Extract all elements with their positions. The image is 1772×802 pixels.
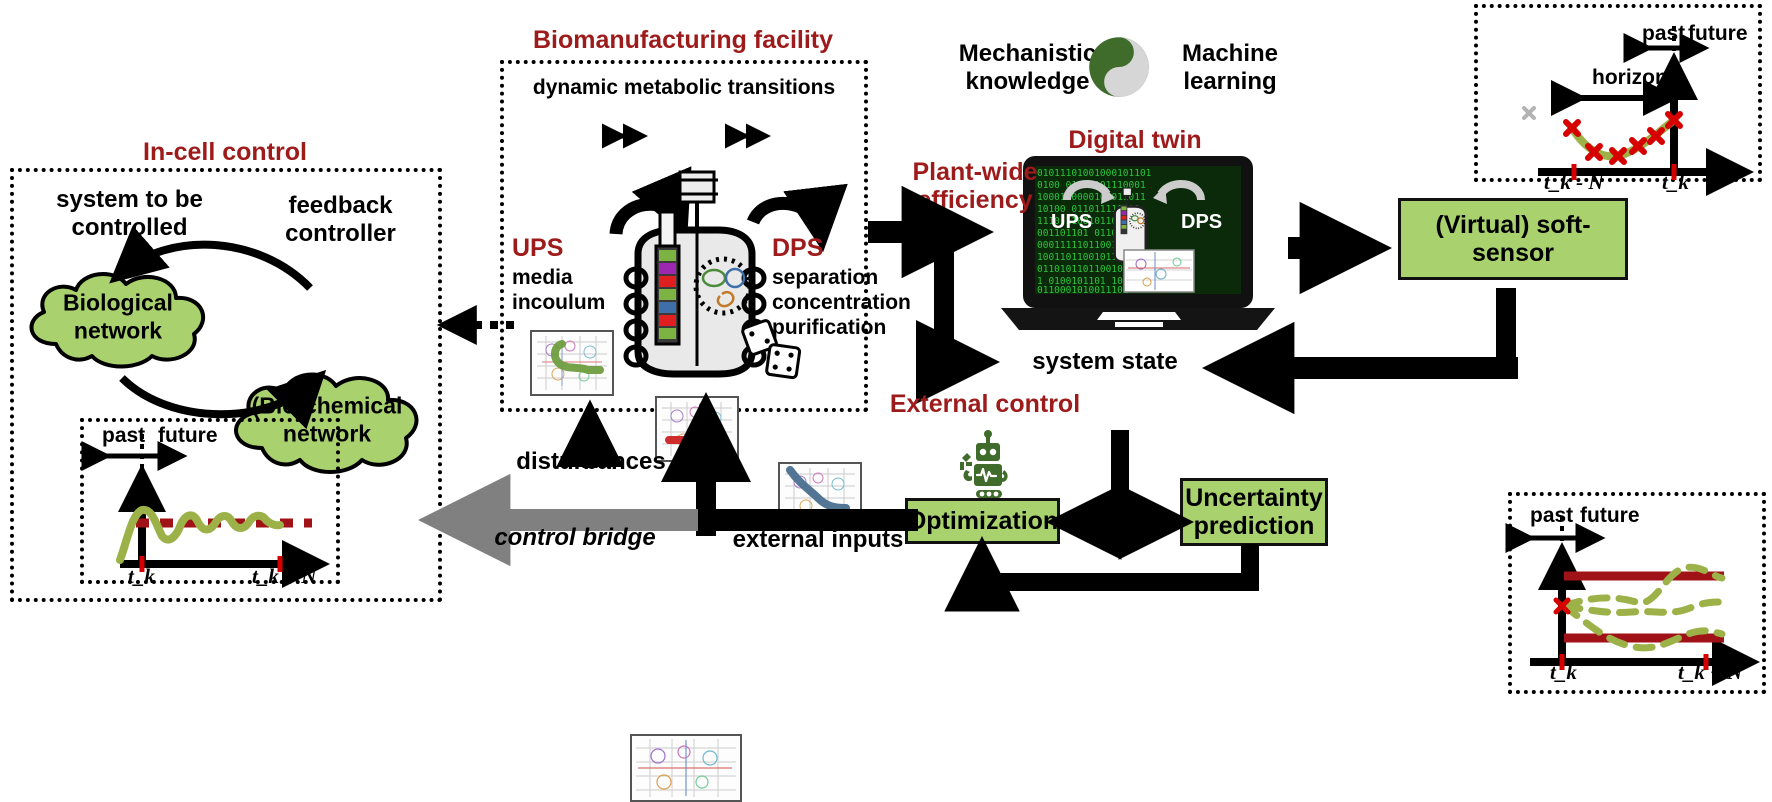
arrow-system-to-controller [122,378,316,414]
future-label: future [1580,504,1640,528]
network-graphic [532,332,612,394]
xticklabel-tk: t_k [1662,170,1689,195]
future-label: future [158,424,218,448]
dps-title: DPS [772,234,882,262]
yin-yang-icon [1088,36,1150,98]
future-label: future [1688,22,1748,46]
uncertainty-to-optimization-feedback [960,540,1280,600]
transition-arrows [610,125,780,147]
xticklabel-tk-plus-n: t_k + N [1678,660,1742,685]
plant-wide-arrow [868,212,1008,402]
ups-subtitle: media incoulum [512,266,624,316]
xticklabel-tk: t_k [1550,660,1577,685]
xticklabel-tk: t_k [128,564,155,589]
xticklabel-tk-minus-n: t_k - N [1544,170,1604,195]
digital-twin-title: Digital twin [1020,126,1250,154]
robot-icon [952,428,1024,500]
control-bridge-label: control bridge [460,524,690,552]
uncertainty-chart: past future t_k t_k + N [1508,492,1766,694]
virtual-soft-sensor-box[interactable]: (Virtual) soft- sensor [1398,198,1628,280]
arrow-controller-to-system [120,245,310,288]
optimization-uncertainty-double-arrow [1058,430,1184,546]
scenario-2-series [1564,602,1722,613]
horizon-label: horizon [1592,66,1668,90]
past-label: past [102,424,145,448]
faded-marker [1524,108,1534,118]
dice-icon [742,320,804,382]
network-graphic [632,736,740,800]
metabolic-network-thumb-1 [530,330,614,396]
uncertainty-prediction-box[interactable]: Uncertainty prediction [1180,478,1328,546]
svg-text:DPS: DPS [1181,211,1222,233]
machine-learning-label: Machine learning [1150,40,1310,95]
disturbances-label: disturbances [500,448,682,476]
past-label: past [1530,504,1573,528]
system-state-label: system state [1010,348,1200,376]
facility-title: Biomanufacturing facility [488,26,878,54]
optimization-box[interactable]: Optimization [905,498,1060,544]
dynamic-metabolic-transitions-label: dynamic metabolic transitions [506,76,862,101]
past-label: past [1642,22,1685,46]
facility-to-incell-dotted-arrow [432,310,522,340]
external-control-title: External control [880,390,1090,418]
incell-title: In-cell control [10,138,440,166]
plant-wide-efficiency-label: Plant-wide efficiency [880,158,1070,214]
bioreactor-network-overlay [630,734,742,802]
ups-title: UPS [512,234,622,262]
svg-text:01101011011001011: 01101011011001011 [1037,264,1135,275]
svg-text:UPS: UPS [1051,211,1092,233]
svg-text:0110001010011101: 0110001010011101 [1037,285,1129,296]
horizon-chart: past future horizon t_k - N t_k [1474,4,1762,182]
external-inputs-label: external inputs [718,526,918,554]
xticklabel-tk-plus-n: t_k + N [252,564,316,589]
incell-loop-arrows [10,230,442,420]
incell-response-chart: past future t_k t_k + N [80,418,340,584]
twin-to-softsensor-arrow [1286,228,1398,268]
softsensor-to-state-arrow [1200,348,1520,388]
